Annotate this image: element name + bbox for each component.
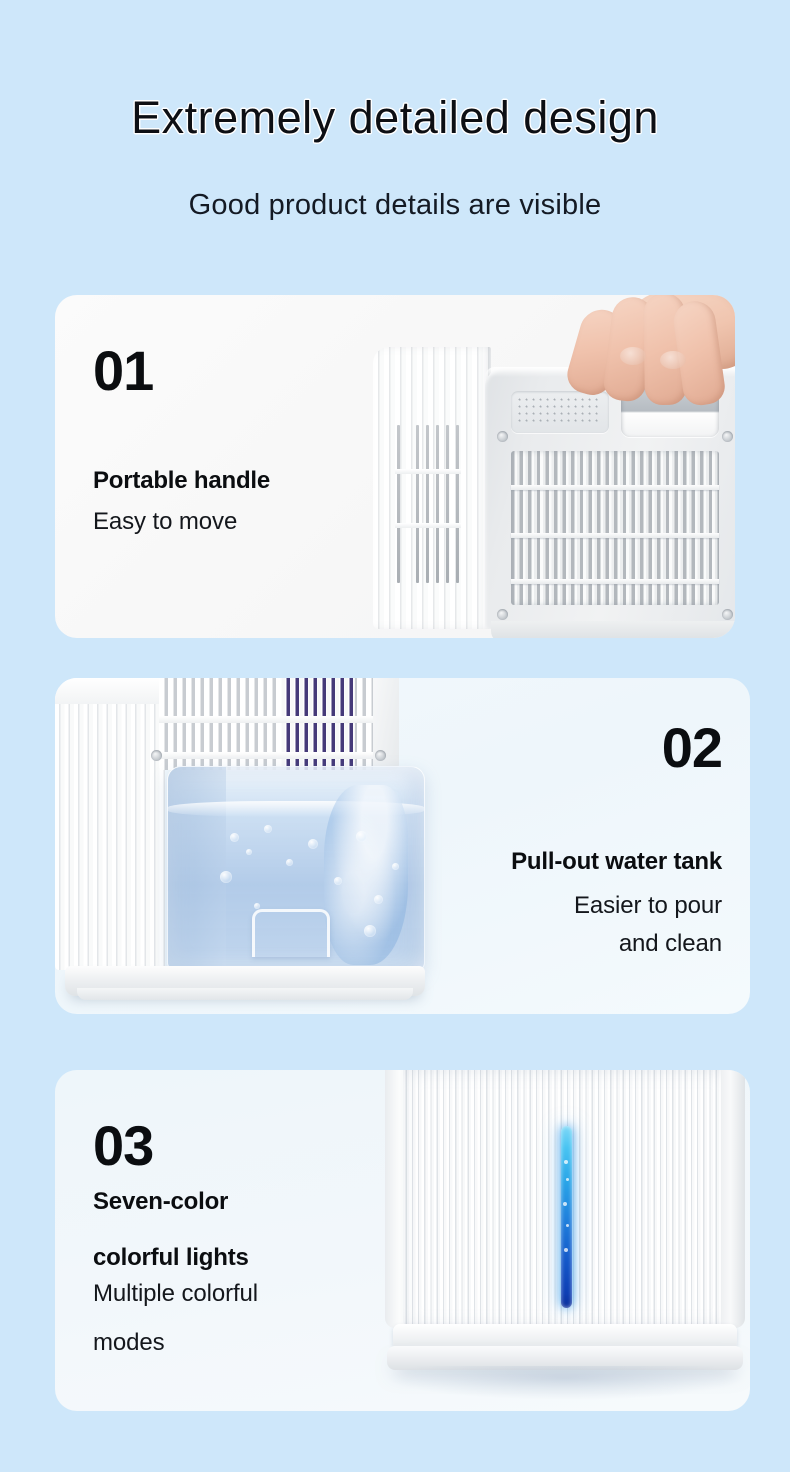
bubble — [254, 903, 260, 909]
side-vent-brace — [395, 469, 461, 474]
feature-description-03-line-2: modes — [93, 1329, 258, 1357]
bubble — [374, 895, 383, 904]
page-title: Extremely detailed design — [0, 92, 790, 144]
feature-card-portable-handle[interactable]: 01 Portable handle Easy to move — [55, 295, 735, 638]
product-image-handle — [373, 333, 735, 638]
product-image-light-strip — [385, 1070, 745, 1411]
feature-text-block-01: 01 Portable handle Easy to move — [93, 343, 270, 536]
knuckle — [660, 351, 686, 369]
appliance-upper-louvers — [159, 678, 379, 770]
grille-brace — [511, 533, 719, 538]
louver-brace — [159, 716, 379, 723]
appliance-base-plinth — [77, 988, 413, 1000]
bubble — [286, 859, 293, 866]
light-bubble — [564, 1248, 568, 1252]
appliance-side-vent-group — [395, 425, 461, 585]
appliance-ribbed-body — [55, 678, 165, 970]
panel-right-edge — [721, 1070, 745, 1328]
grille-brace — [511, 579, 719, 584]
bubble — [392, 863, 399, 870]
side-vent-slit — [426, 425, 429, 583]
corner-screw — [497, 609, 508, 620]
hand-gripping-handle — [568, 295, 735, 413]
bubble — [220, 871, 232, 883]
knuckle — [620, 347, 646, 365]
bubble — [308, 839, 318, 849]
appliance-body-top — [55, 678, 165, 704]
feature-text-block-03: 03 Seven-color colorful lights Multiple … — [93, 1118, 258, 1357]
side-vent-brace — [395, 523, 461, 528]
corner-screw — [151, 750, 162, 761]
bubble — [230, 833, 239, 842]
feature-number-02: 02 — [511, 720, 722, 776]
louver-brace — [159, 752, 379, 759]
water-splash — [324, 785, 408, 965]
bubble — [364, 925, 376, 937]
feature-number-03: 03 — [93, 1118, 258, 1174]
feature-description-02-line-1: Easier to pour — [511, 892, 722, 920]
bubble — [246, 849, 252, 855]
side-vent-slit — [436, 425, 439, 583]
page-header: Extremely detailed design Good product d… — [0, 0, 790, 222]
appliance-bottom-lip — [491, 621, 735, 638]
side-vent-slit — [416, 425, 419, 583]
side-vent-slit — [456, 425, 459, 583]
side-vent-slit — [397, 425, 400, 583]
seven-color-light-strip[interactable] — [561, 1126, 572, 1308]
corner-screw — [722, 609, 733, 620]
page-subtitle: Good product details are visible — [0, 189, 790, 222]
corner-screw — [497, 431, 508, 442]
feature-title-03-line-2: colorful lights — [93, 1244, 258, 1272]
bubble — [264, 825, 272, 833]
light-bubble — [566, 1224, 569, 1227]
feature-title-02: Pull-out water tank — [511, 848, 722, 876]
light-bubble — [566, 1178, 569, 1181]
feature-card-water-tank[interactable]: 02 Pull-out water tank Easier to pour an… — [55, 678, 750, 1014]
corner-screw — [375, 750, 386, 761]
feature-title-03-line-1: Seven-color — [93, 1188, 258, 1216]
side-vent-slit — [446, 425, 449, 583]
feature-text-block-02: 02 Pull-out water tank Easier to pour an… — [511, 720, 722, 958]
feature-description-03-line-1: Multiple colorful — [93, 1280, 258, 1308]
feature-number-01: 01 — [93, 343, 270, 399]
feature-description-01: Easy to move — [93, 508, 270, 536]
base-shadow — [385, 1366, 745, 1400]
feature-card-colorful-lights[interactable]: 03 Seven-color colorful lights Multiple … — [55, 1070, 750, 1411]
light-bubble — [564, 1160, 568, 1164]
light-bubble — [563, 1202, 567, 1206]
tank-inner-handle — [252, 909, 330, 957]
product-image-water-tank — [55, 678, 485, 1014]
feature-description-02-line-2: and clean — [511, 930, 722, 958]
feature-title-01: Portable handle — [93, 467, 270, 495]
corner-screw — [722, 431, 733, 442]
water-tank[interactable] — [167, 766, 425, 972]
bubble — [334, 877, 342, 885]
grille-brace — [511, 485, 719, 490]
tank-left-face — [168, 767, 226, 971]
bubble — [356, 831, 367, 842]
